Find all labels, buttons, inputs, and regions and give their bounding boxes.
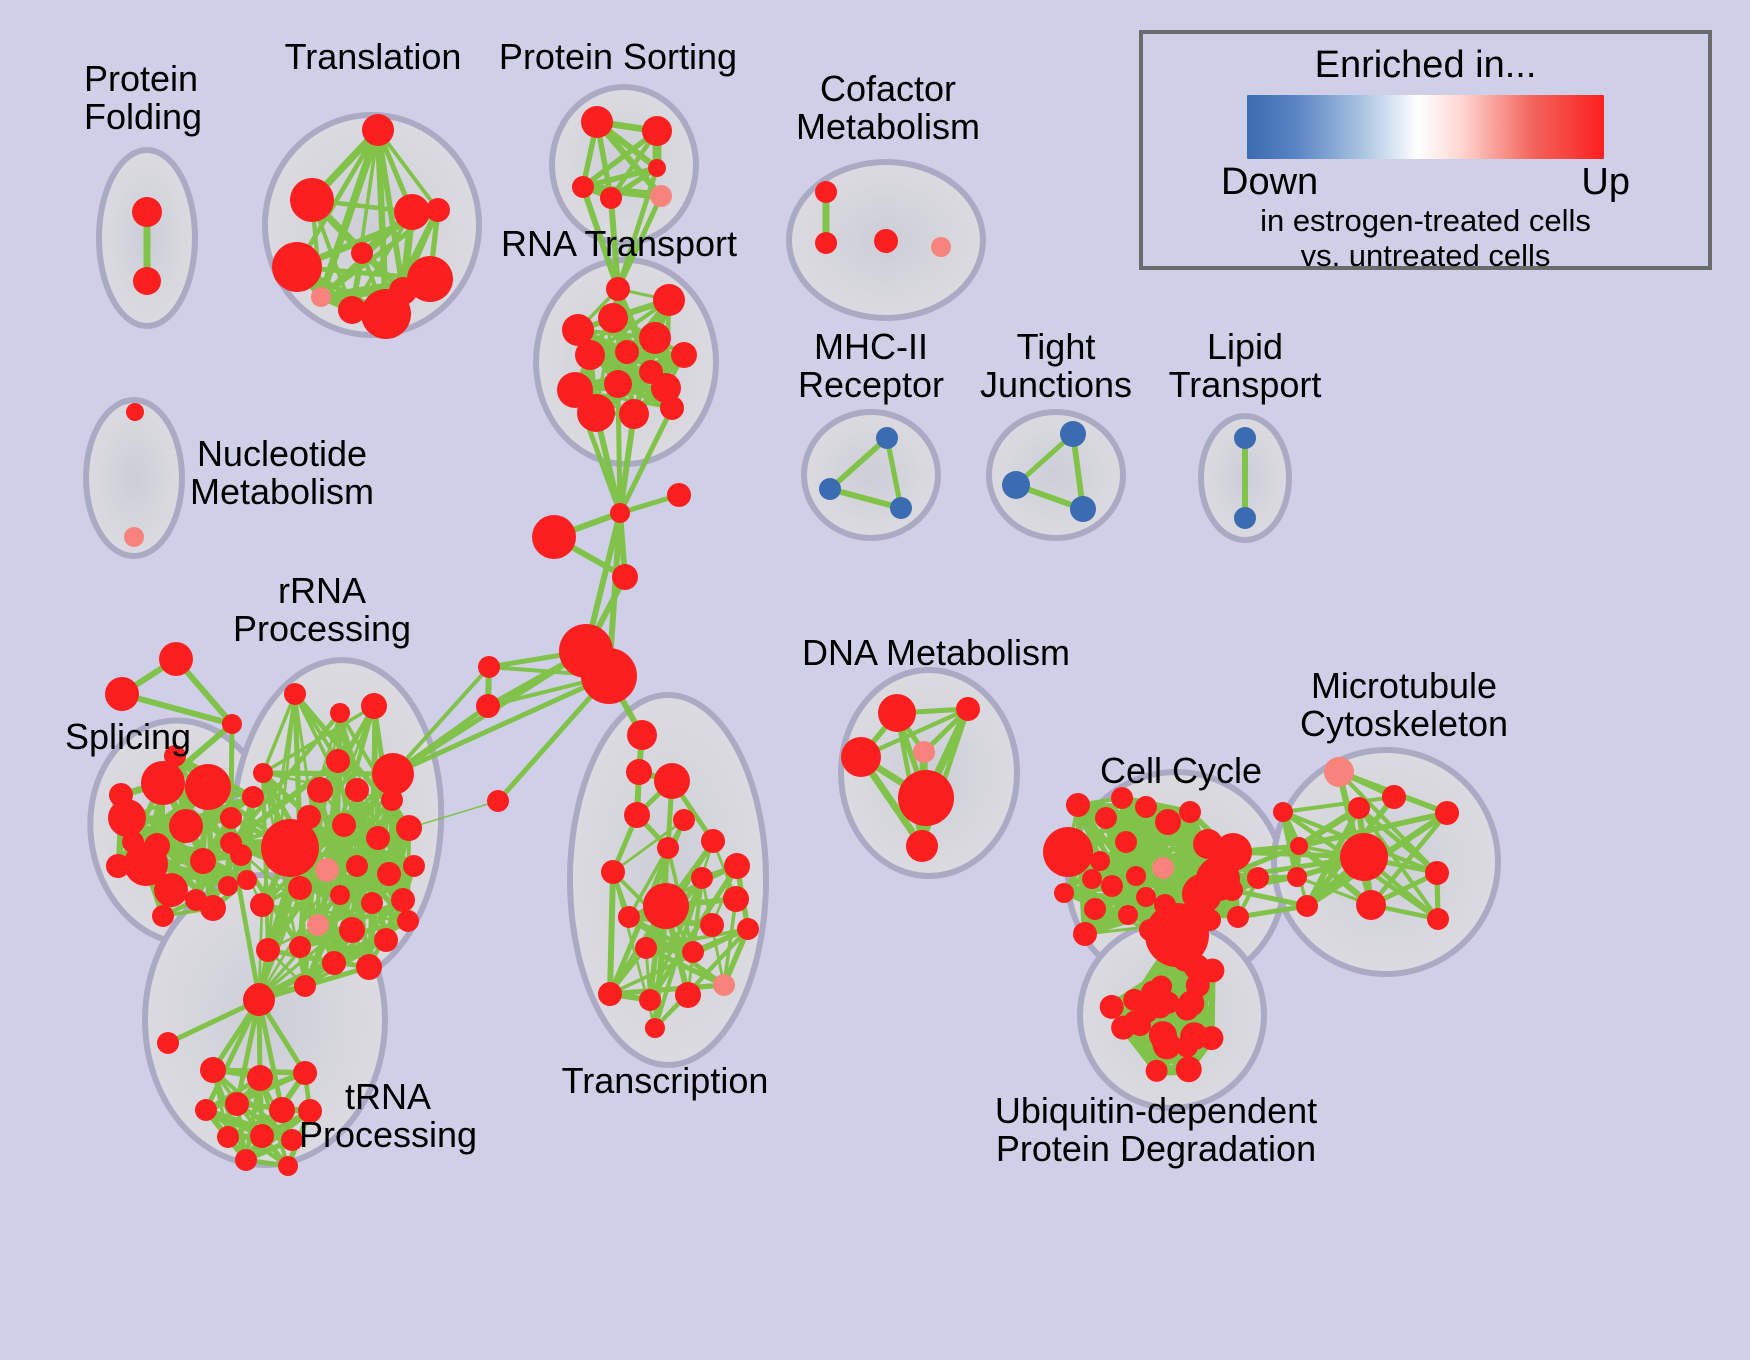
network-node: [487, 790, 509, 812]
network-node: [581, 106, 613, 138]
cluster-ellipse: [552, 87, 696, 243]
network-node: [294, 975, 316, 997]
cluster-label-rrna-processing: rRNA Processing: [233, 572, 411, 648]
network-node: [876, 427, 898, 449]
network-node: [1135, 796, 1157, 818]
network-node: [278, 1156, 298, 1176]
network-node: [724, 853, 750, 879]
network-node: [606, 277, 630, 301]
network-node: [639, 989, 661, 1011]
network-node: [956, 697, 980, 721]
network-node: [361, 693, 387, 719]
cluster-label-tight-junctions: Tight Junctions: [980, 328, 1132, 404]
network-node: [1090, 851, 1110, 871]
network-node: [1247, 867, 1269, 889]
legend-high-label: Up: [1581, 161, 1630, 204]
network-node: [315, 858, 339, 882]
network-node: [322, 951, 346, 975]
network-node: [1200, 959, 1224, 983]
network-node: [1435, 801, 1459, 825]
network-node: [237, 870, 257, 890]
network-node: [1139, 919, 1161, 941]
cluster-label-protein-sorting: Protein Sorting: [499, 38, 737, 76]
network-node: [619, 399, 649, 429]
network-node: [1178, 990, 1204, 1016]
network-node: [133, 267, 161, 295]
network-node: [627, 720, 657, 750]
network-node: [667, 483, 691, 507]
cluster-ellipse: [804, 412, 938, 538]
network-node: [407, 256, 453, 302]
network-node: [159, 642, 193, 676]
network-node: [1324, 757, 1354, 787]
network-node: [1287, 867, 1307, 887]
network-node: [235, 1149, 257, 1171]
network-edge: [618, 384, 620, 513]
network-node: [478, 656, 500, 678]
cluster-label-translation: Translation: [285, 38, 462, 76]
network-edge: [610, 872, 613, 994]
network-node: [657, 837, 679, 859]
network-node: [635, 937, 657, 959]
network-node: [890, 497, 912, 519]
network-node: [1100, 995, 1124, 1019]
network-node: [600, 187, 622, 209]
network-node: [1066, 793, 1090, 817]
network-node: [654, 763, 690, 799]
network-node: [272, 242, 322, 292]
network-node: [374, 928, 398, 952]
legend-low-label: Down: [1221, 161, 1318, 204]
network-node: [1199, 1026, 1223, 1050]
network-node: [598, 303, 628, 333]
network-node: [217, 1126, 239, 1148]
network-node: [1070, 496, 1096, 522]
network-node: [152, 905, 174, 927]
network-node: [361, 892, 383, 914]
legend-box: Enriched in... Down Up in estrogen-treat…: [1139, 30, 1712, 270]
network-node: [144, 833, 170, 859]
network-node: [297, 805, 321, 829]
network-node: [1141, 981, 1165, 1005]
network-node: [1084, 898, 1106, 920]
network-node: [307, 777, 333, 803]
legend-title: Enriched in...: [1169, 44, 1682, 87]
network-node: [713, 974, 735, 996]
network-node: [185, 764, 231, 810]
cluster-label-ubiquitin-protein-degradation: Ubiquitin-dependent Protein Degradation: [995, 1092, 1317, 1168]
network-node: [671, 342, 697, 368]
network-node: [124, 527, 144, 547]
network-node: [330, 885, 350, 905]
network-node: [1115, 831, 1137, 853]
network-node: [612, 564, 638, 590]
network-node: [220, 832, 242, 854]
network-node: [701, 829, 725, 853]
network-node: [645, 1018, 665, 1038]
network-node: [624, 802, 650, 828]
network-node: [190, 848, 216, 874]
cluster-label-trna-processing: tRNA Processing: [299, 1078, 477, 1154]
network-node: [815, 232, 837, 254]
network-node: [394, 194, 430, 230]
network-node: [906, 830, 938, 862]
network-node: [1348, 797, 1370, 819]
network-node: [1227, 906, 1249, 928]
cluster-label-splicing: Splicing: [65, 718, 191, 756]
network-node: [397, 910, 419, 932]
network-node: [581, 648, 637, 704]
network-node: [225, 1092, 249, 1116]
network-node: [575, 340, 605, 370]
cluster-label-cell-cycle: Cell Cycle: [1100, 752, 1262, 790]
network-node: [1126, 866, 1146, 886]
network-node: [675, 982, 701, 1008]
cluster-label-nucleotide-metabolism: Nucleotide Metabolism: [190, 435, 374, 511]
network-node: [132, 197, 162, 227]
cluster-label-cofactor-metabolism: Cofactor Metabolism: [796, 70, 980, 146]
network-node: [403, 855, 425, 877]
network-node: [200, 895, 226, 921]
network-node: [200, 1057, 226, 1083]
network-node: [1060, 421, 1086, 447]
network-node: [362, 114, 394, 146]
network-node: [598, 982, 622, 1006]
network-node: [288, 876, 312, 900]
cluster-label-protein-folding: Protein Folding: [84, 60, 202, 136]
network-node: [615, 340, 639, 364]
network-node: [195, 1099, 217, 1121]
legend-color-gradient: [1247, 95, 1604, 159]
network-node: [332, 813, 356, 837]
network-node: [381, 789, 403, 811]
legend-caption-line2: vs. untreated cells: [1169, 239, 1682, 274]
network-node: [931, 237, 951, 257]
network-node: [141, 761, 185, 805]
network-node: [819, 478, 841, 500]
network-node: [660, 396, 684, 420]
network-node: [220, 807, 242, 829]
cluster-label-lipid-transport: Lipid Transport: [1169, 328, 1322, 404]
network-node: [648, 159, 666, 177]
network-node: [284, 683, 306, 705]
cluster-label-microtubule-cytoskeleton: Microtubule Cytoskeleton: [1300, 667, 1508, 743]
network-node: [253, 763, 273, 783]
network-node: [874, 229, 898, 253]
network-node: [1136, 887, 1156, 907]
network-node: [604, 370, 632, 398]
network-node: [361, 289, 411, 339]
network-node: [898, 770, 954, 826]
network-node: [691, 867, 713, 889]
network-node: [242, 786, 264, 808]
network-node: [1273, 802, 1293, 822]
network-node: [366, 826, 390, 850]
network-node: [653, 284, 685, 316]
network-node: [1153, 1031, 1181, 1059]
network-node: [532, 515, 576, 559]
network-node: [577, 394, 615, 432]
network-node: [737, 918, 759, 940]
network-node: [1154, 894, 1176, 916]
network-node: [339, 917, 365, 943]
network-node: [377, 862, 401, 886]
network-node: [1382, 785, 1406, 809]
network-node: [1296, 895, 1318, 917]
network-node: [1146, 1060, 1168, 1082]
network-node: [109, 783, 133, 807]
cluster-label-mhc-ii-receptor: MHC-II Receptor: [798, 328, 944, 404]
network-node: [122, 831, 144, 853]
network-node: [1427, 908, 1449, 930]
network-node: [106, 854, 130, 878]
network-node: [642, 116, 672, 146]
network-node: [346, 855, 368, 877]
network-node: [476, 694, 500, 718]
network-node: [1118, 905, 1138, 925]
network-node: [878, 694, 916, 732]
network-node: [1234, 427, 1256, 449]
network-node: [1221, 879, 1243, 901]
cluster-label-rna-transport: RNA Transport: [501, 225, 737, 263]
network-node: [222, 714, 242, 734]
network-node: [1101, 875, 1123, 897]
network-node: [307, 914, 329, 936]
network-node: [841, 737, 881, 777]
network-node: [396, 815, 422, 841]
legend-caption-line1: in estrogen-treated cells: [1169, 204, 1682, 239]
network-node: [105, 677, 139, 711]
network-node: [815, 181, 837, 203]
network-node: [1234, 507, 1256, 529]
network-node: [682, 941, 704, 963]
network-node: [1073, 922, 1097, 946]
network-node: [1002, 471, 1030, 499]
network-node: [356, 954, 382, 980]
network-node: [326, 749, 350, 773]
network-node: [723, 886, 749, 912]
network-node: [1290, 837, 1308, 855]
network-node: [250, 1124, 274, 1148]
network-node: [218, 876, 238, 896]
network-node: [289, 936, 311, 958]
network-node: [1173, 949, 1195, 971]
network-node: [269, 1097, 295, 1123]
network-node: [1425, 861, 1449, 885]
network-node: [157, 1032, 179, 1054]
network-node: [290, 178, 334, 222]
network-node: [247, 1065, 273, 1091]
network-node: [1356, 890, 1386, 920]
network-node: [351, 242, 373, 264]
network-node: [643, 883, 689, 929]
network-node: [1152, 857, 1174, 879]
network-node: [169, 809, 203, 843]
network-node: [650, 185, 672, 207]
network-node: [391, 888, 415, 912]
network-node: [626, 759, 652, 785]
network-node: [1082, 869, 1102, 889]
network-node: [154, 873, 188, 907]
network-node: [700, 913, 724, 937]
cluster-label-transcription: Transcription: [562, 1062, 769, 1100]
network-node: [1155, 809, 1181, 835]
cluster-label-dna-metabolism: DNA Metabolism: [802, 634, 1070, 672]
network-node: [1176, 1056, 1202, 1082]
network-node: [1179, 801, 1201, 823]
network-node: [639, 322, 671, 354]
network-node: [345, 778, 369, 802]
network-node: [1043, 827, 1093, 877]
network-node: [1095, 807, 1117, 829]
network-node: [1340, 833, 1388, 881]
network-node: [426, 198, 450, 222]
network-node: [610, 503, 630, 523]
network-node: [618, 906, 640, 928]
network-node: [572, 176, 594, 198]
network-node: [330, 703, 350, 723]
network-node: [311, 287, 331, 307]
network-node: [601, 860, 625, 884]
network-node: [1054, 883, 1074, 903]
network-node: [1182, 874, 1222, 914]
network-node: [243, 984, 275, 1016]
network-node: [1172, 921, 1200, 949]
network-node: [256, 938, 280, 962]
network-node: [250, 893, 274, 917]
network-node: [673, 809, 695, 831]
network-node: [372, 753, 414, 795]
network-node: [1129, 1014, 1151, 1036]
network-node: [913, 741, 935, 763]
enrichment-map-figure: Protein FoldingTranslationProtein Sortin…: [0, 0, 1750, 1360]
network-node: [1199, 909, 1221, 931]
network-node: [126, 403, 144, 421]
